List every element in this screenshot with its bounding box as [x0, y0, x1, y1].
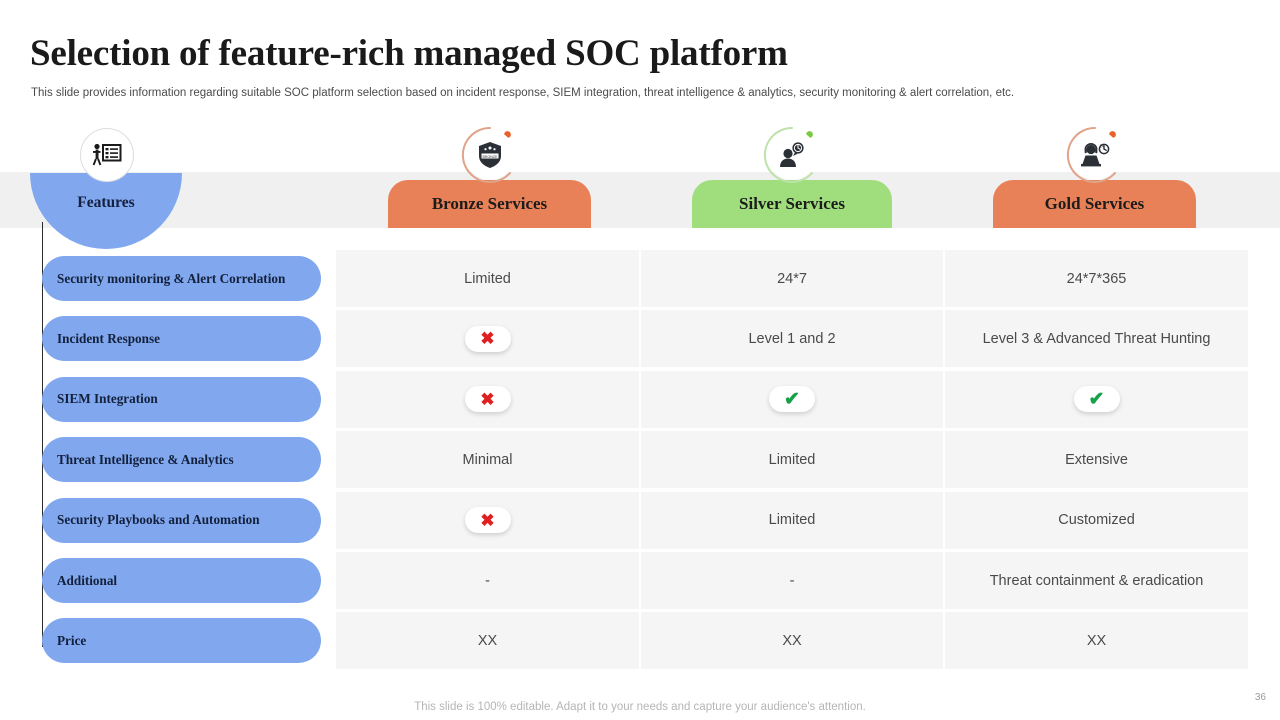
cross-icon: ✖ — [465, 507, 511, 533]
cross-icon: ✖ — [465, 386, 511, 412]
feature-label-pill[interactable]: Incident Response — [42, 316, 321, 361]
cell-value: 24*7 — [777, 271, 807, 287]
presenter-board-icon — [80, 128, 134, 182]
feature-label-pill[interactable]: SIEM Integration — [42, 377, 321, 422]
svg-text:BRONZE: BRONZE — [482, 155, 498, 159]
table-cell: ✔ — [945, 371, 1248, 428]
table-cell: - — [336, 552, 639, 609]
feature-label-pill[interactable]: Security monitoring & Alert Correlation — [42, 256, 321, 301]
cell-value: Minimal — [463, 452, 513, 468]
column-header-label: Silver Services — [739, 194, 845, 214]
table-cell: Customized — [945, 492, 1248, 549]
feature-label: Security monitoring & Alert Correlation — [57, 271, 285, 287]
page-number: 36 — [1255, 692, 1266, 703]
table-cell: 24*7 — [641, 250, 943, 307]
cell-value: Level 1 and 2 — [748, 331, 835, 347]
table-cell: Threat containment & eradication — [945, 552, 1248, 609]
feature-label: Incident Response — [57, 331, 160, 347]
cell-value: Limited — [769, 512, 816, 528]
table-cell: Level 1 and 2 — [641, 310, 943, 367]
feature-label-pill[interactable]: Security Playbooks and Automation — [42, 498, 321, 543]
features-header-label: Features — [30, 173, 182, 233]
cell-value: Limited — [464, 271, 511, 287]
cell-value: XX — [478, 633, 497, 649]
table-cell: XX — [641, 612, 943, 669]
feature-label-pill[interactable]: Additional — [42, 558, 321, 603]
table-cell: ✖ — [336, 492, 639, 549]
table-cell: ✖ — [336, 310, 639, 367]
cell-value: XX — [782, 633, 801, 649]
feature-label-pill[interactable]: Price — [42, 618, 321, 663]
table-cell: Minimal — [336, 431, 639, 488]
table-cell: Limited — [641, 492, 943, 549]
feature-label: Security Playbooks and Automation — [57, 512, 260, 528]
cell-value: - — [485, 573, 490, 589]
column-header-gold[interactable]: Gold Services — [993, 180, 1196, 228]
cell-value: Threat containment & eradication — [990, 573, 1204, 589]
table-cell: 24*7*365 — [945, 250, 1248, 307]
svg-text:24: 24 — [1099, 144, 1104, 149]
cell-value: Limited — [769, 452, 816, 468]
table-cell: XX — [945, 612, 1248, 669]
table-cell: Limited — [641, 431, 943, 488]
page-subtitle: This slide provides information regardin… — [31, 87, 1014, 99]
feature-label: Additional — [57, 573, 117, 589]
feature-label: Price — [57, 633, 86, 649]
cell-value: Customized — [1058, 512, 1135, 528]
table-cell: Limited — [336, 250, 639, 307]
bronze-badge-icon: BRONZE — [460, 125, 520, 185]
table-cell: ✖ — [336, 371, 639, 428]
feature-label: SIEM Integration — [57, 391, 158, 407]
cell-value: - — [790, 573, 795, 589]
column-header-label: Bronze Services — [432, 194, 547, 214]
table-cell: ✔ — [641, 371, 943, 428]
table-cell: - — [641, 552, 943, 609]
feature-label-pill[interactable]: Threat Intelligence & Analytics — [42, 437, 321, 482]
feature-label: Threat Intelligence & Analytics — [57, 452, 234, 468]
cell-value: Level 3 & Advanced Threat Hunting — [983, 331, 1211, 347]
check-icon: ✔ — [769, 386, 815, 412]
column-header-bronze[interactable]: Bronze Services — [388, 180, 591, 228]
cell-value: XX — [1087, 633, 1106, 649]
column-header-label: Gold Services — [1045, 194, 1145, 214]
table-cell: XX — [336, 612, 639, 669]
check-icon: ✔ — [1074, 386, 1120, 412]
column-header-silver[interactable]: Silver Services — [692, 180, 892, 228]
table-cell: Extensive — [945, 431, 1248, 488]
cell-value: Extensive — [1065, 452, 1128, 468]
support-person-clock-icon — [762, 125, 822, 185]
footer-note: This slide is 100% editable. Adapt it to… — [0, 701, 1280, 713]
headset-agent-24h-icon: 24 — [1065, 125, 1125, 185]
slide-canvas: Selection of feature-rich managed SOC pl… — [0, 0, 1280, 720]
cell-value: 24*7*365 — [1067, 271, 1127, 287]
page-title: Selection of feature-rich managed SOC pl… — [30, 32, 788, 75]
cross-icon: ✖ — [465, 326, 511, 352]
table-cell: Level 3 & Advanced Threat Hunting — [945, 310, 1248, 367]
